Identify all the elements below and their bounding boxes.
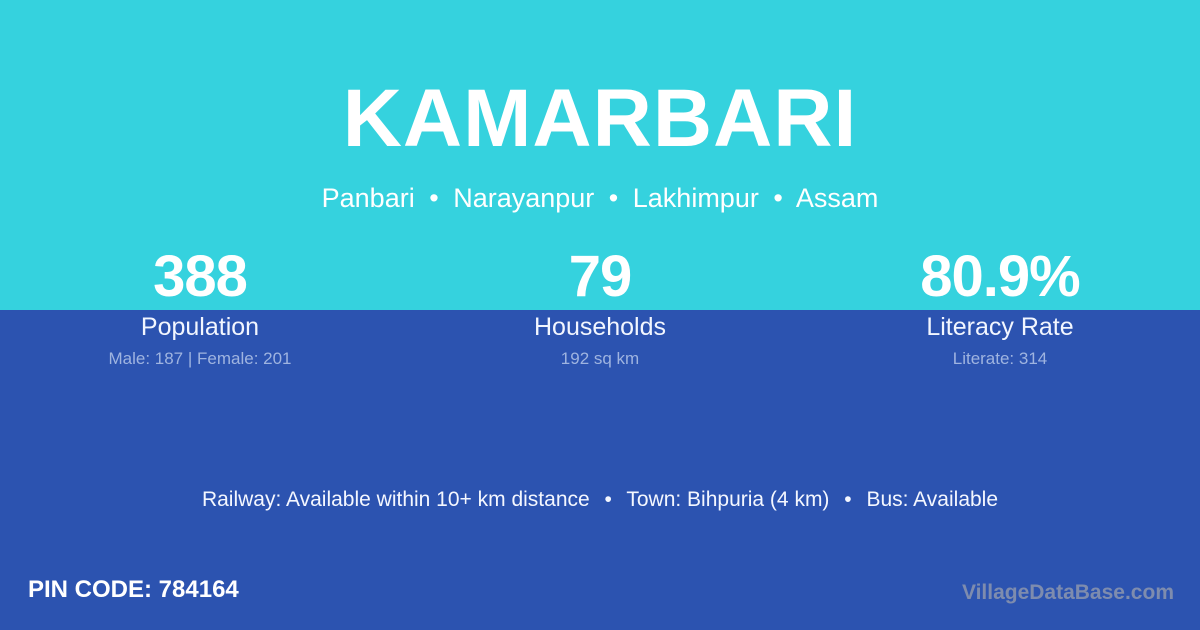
breadcrumb-panchayat: Panbari	[322, 183, 415, 213]
stat-subtext: Male: 187 | Female: 201	[0, 348, 400, 369]
breadcrumb-state: Assam	[796, 183, 879, 213]
stats-row: 388 Population Male: 187 | Female: 201 7…	[0, 243, 1200, 369]
breadcrumb-separator: •	[422, 183, 445, 213]
breadcrumb-separator: •	[602, 183, 625, 213]
pin-code-label: PIN CODE: 784164	[28, 575, 239, 605]
amenity-bus: Bus: Available	[866, 488, 998, 511]
stat-label: Population	[0, 312, 400, 343]
stat-label: Households	[400, 312, 800, 343]
stat-subtext: 192 sq km	[400, 348, 800, 369]
stat-label: Literacy Rate	[800, 312, 1200, 343]
stat-subtext: Literate: 314	[800, 348, 1200, 369]
breadcrumb-separator: •	[766, 183, 789, 213]
amenity-separator: •	[596, 488, 621, 511]
stat-literacy-rate: 80.9% Literacy Rate Literate: 314	[800, 243, 1200, 369]
amenities-row: Railway: Available within 10+ km distanc…	[0, 486, 1200, 514]
amenity-separator: •	[835, 488, 860, 511]
stat-value: 388	[0, 243, 400, 311]
amenity-railway: Railway: Available within 10+ km distanc…	[202, 488, 590, 511]
village-info-card: KAMARBARI Panbari • Narayanpur • Lakhimp…	[0, 0, 1200, 630]
stat-value: 80.9%	[800, 243, 1200, 311]
location-breadcrumb: Panbari • Narayanpur • Lakhimpur • Assam	[0, 182, 1200, 214]
site-branding: VillageDataBase.com	[962, 579, 1174, 606]
stat-value: 79	[400, 243, 800, 311]
amenity-town: Town: Bihpuria (4 km)	[626, 488, 829, 511]
breadcrumb-block: Narayanpur	[453, 183, 594, 213]
page-title: KAMARBARI	[0, 78, 1200, 160]
stat-population: 388 Population Male: 187 | Female: 201	[0, 243, 400, 369]
stat-households: 79 Households 192 sq km	[400, 243, 800, 369]
breadcrumb-district: Lakhimpur	[633, 183, 759, 213]
